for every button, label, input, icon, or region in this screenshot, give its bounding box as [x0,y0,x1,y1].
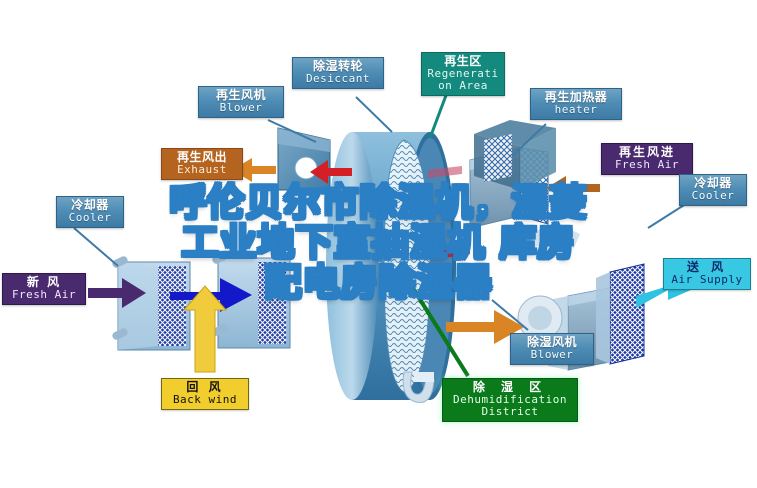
arrow-fresh-air-left [88,278,146,308]
label-dehumidification-blower[interactable]: 除湿风机 Blower [510,333,594,365]
label-regeneration-exhaust[interactable]: 再生风出 Exhaust [161,148,243,180]
label-regeneration-heater[interactable]: 再生加热器 heater [530,88,622,120]
condensate-duct [403,372,434,403]
dehumidifier-diagram: XT [0,0,757,488]
supply-coil [596,264,644,364]
arrow-back-wind [184,286,226,372]
label-en-2: District [448,406,572,418]
label-en: Fresh Air [607,159,687,171]
label-cn: 再生区 [427,55,499,68]
arrow-regen-hot [310,160,352,184]
label-regeneration-blower[interactable]: 再生风机 Blower [198,86,284,118]
heater-accent [432,246,470,260]
label-en: Back wind [167,394,243,406]
desiccant-rotor-drum: XT [326,132,456,400]
label-cn: 送 风 [669,261,745,274]
label-regeneration-area[interactable]: 再生区 Regenerati on Area [421,52,505,96]
label-cn: 回 风 [167,381,243,394]
label-en: Cooler [685,190,741,202]
label-cn: 再生风机 [204,89,278,102]
label-cn: 再生加热器 [536,91,616,104]
label-en-2: on Area [427,80,499,92]
label-en: Blower [204,102,278,114]
label-cn: 除湿转轮 [298,60,378,73]
label-en: Cooler [62,212,118,224]
label-cooler-right[interactable]: 冷却器 Cooler [679,174,747,206]
label-en: Fresh Air [8,289,80,301]
second-cooler-coil [211,251,290,348]
rotor-seal [428,166,462,178]
watermark-line-2: 工业地下室抽湿机 库房 [0,223,757,263]
arrow-process-air [170,278,252,312]
arrow-regen-fresh [546,176,600,200]
label-cn: 除湿风机 [516,336,588,349]
label-desiccant-rotor[interactable]: 除湿转轮 Desiccant [292,57,384,89]
svg-text:XT: XT [378,261,395,276]
label-cn: 新 风 [8,276,80,289]
label-en: Exhaust [167,164,237,176]
label-regeneration-fresh-air[interactable]: 再生风进 Fresh Air [601,143,693,175]
regeneration-heater [470,148,548,228]
label-fresh-air-inlet[interactable]: 新 风 Fresh Air [2,273,86,305]
label-cn: 除 湿 区 [448,381,572,394]
label-en: Blower [516,349,588,361]
label-air-supply[interactable]: 送 风 Air Supply [663,258,751,290]
label-cn: 冷却器 [685,177,741,190]
label-dehumidification-district[interactable]: 除 湿 区 Dehumidification District [442,378,578,422]
label-cooler-left[interactable]: 冷却器 Cooler [56,196,124,228]
label-en: heater [536,104,616,116]
label-en: Desiccant [298,73,378,85]
label-back-wind[interactable]: 回 风 Back wind [161,378,249,410]
regeneration-blower [278,128,330,190]
label-cn: 冷却器 [62,199,118,212]
label-cn: 再生风进 [607,146,687,159]
label-cn: 再生风出 [167,151,237,164]
label-en: Air Supply [669,274,745,286]
watermark-line-3: 配电房除湿器 [0,263,757,303]
left-cooler-coil [111,255,190,350]
regeneration-duct [474,120,556,190]
